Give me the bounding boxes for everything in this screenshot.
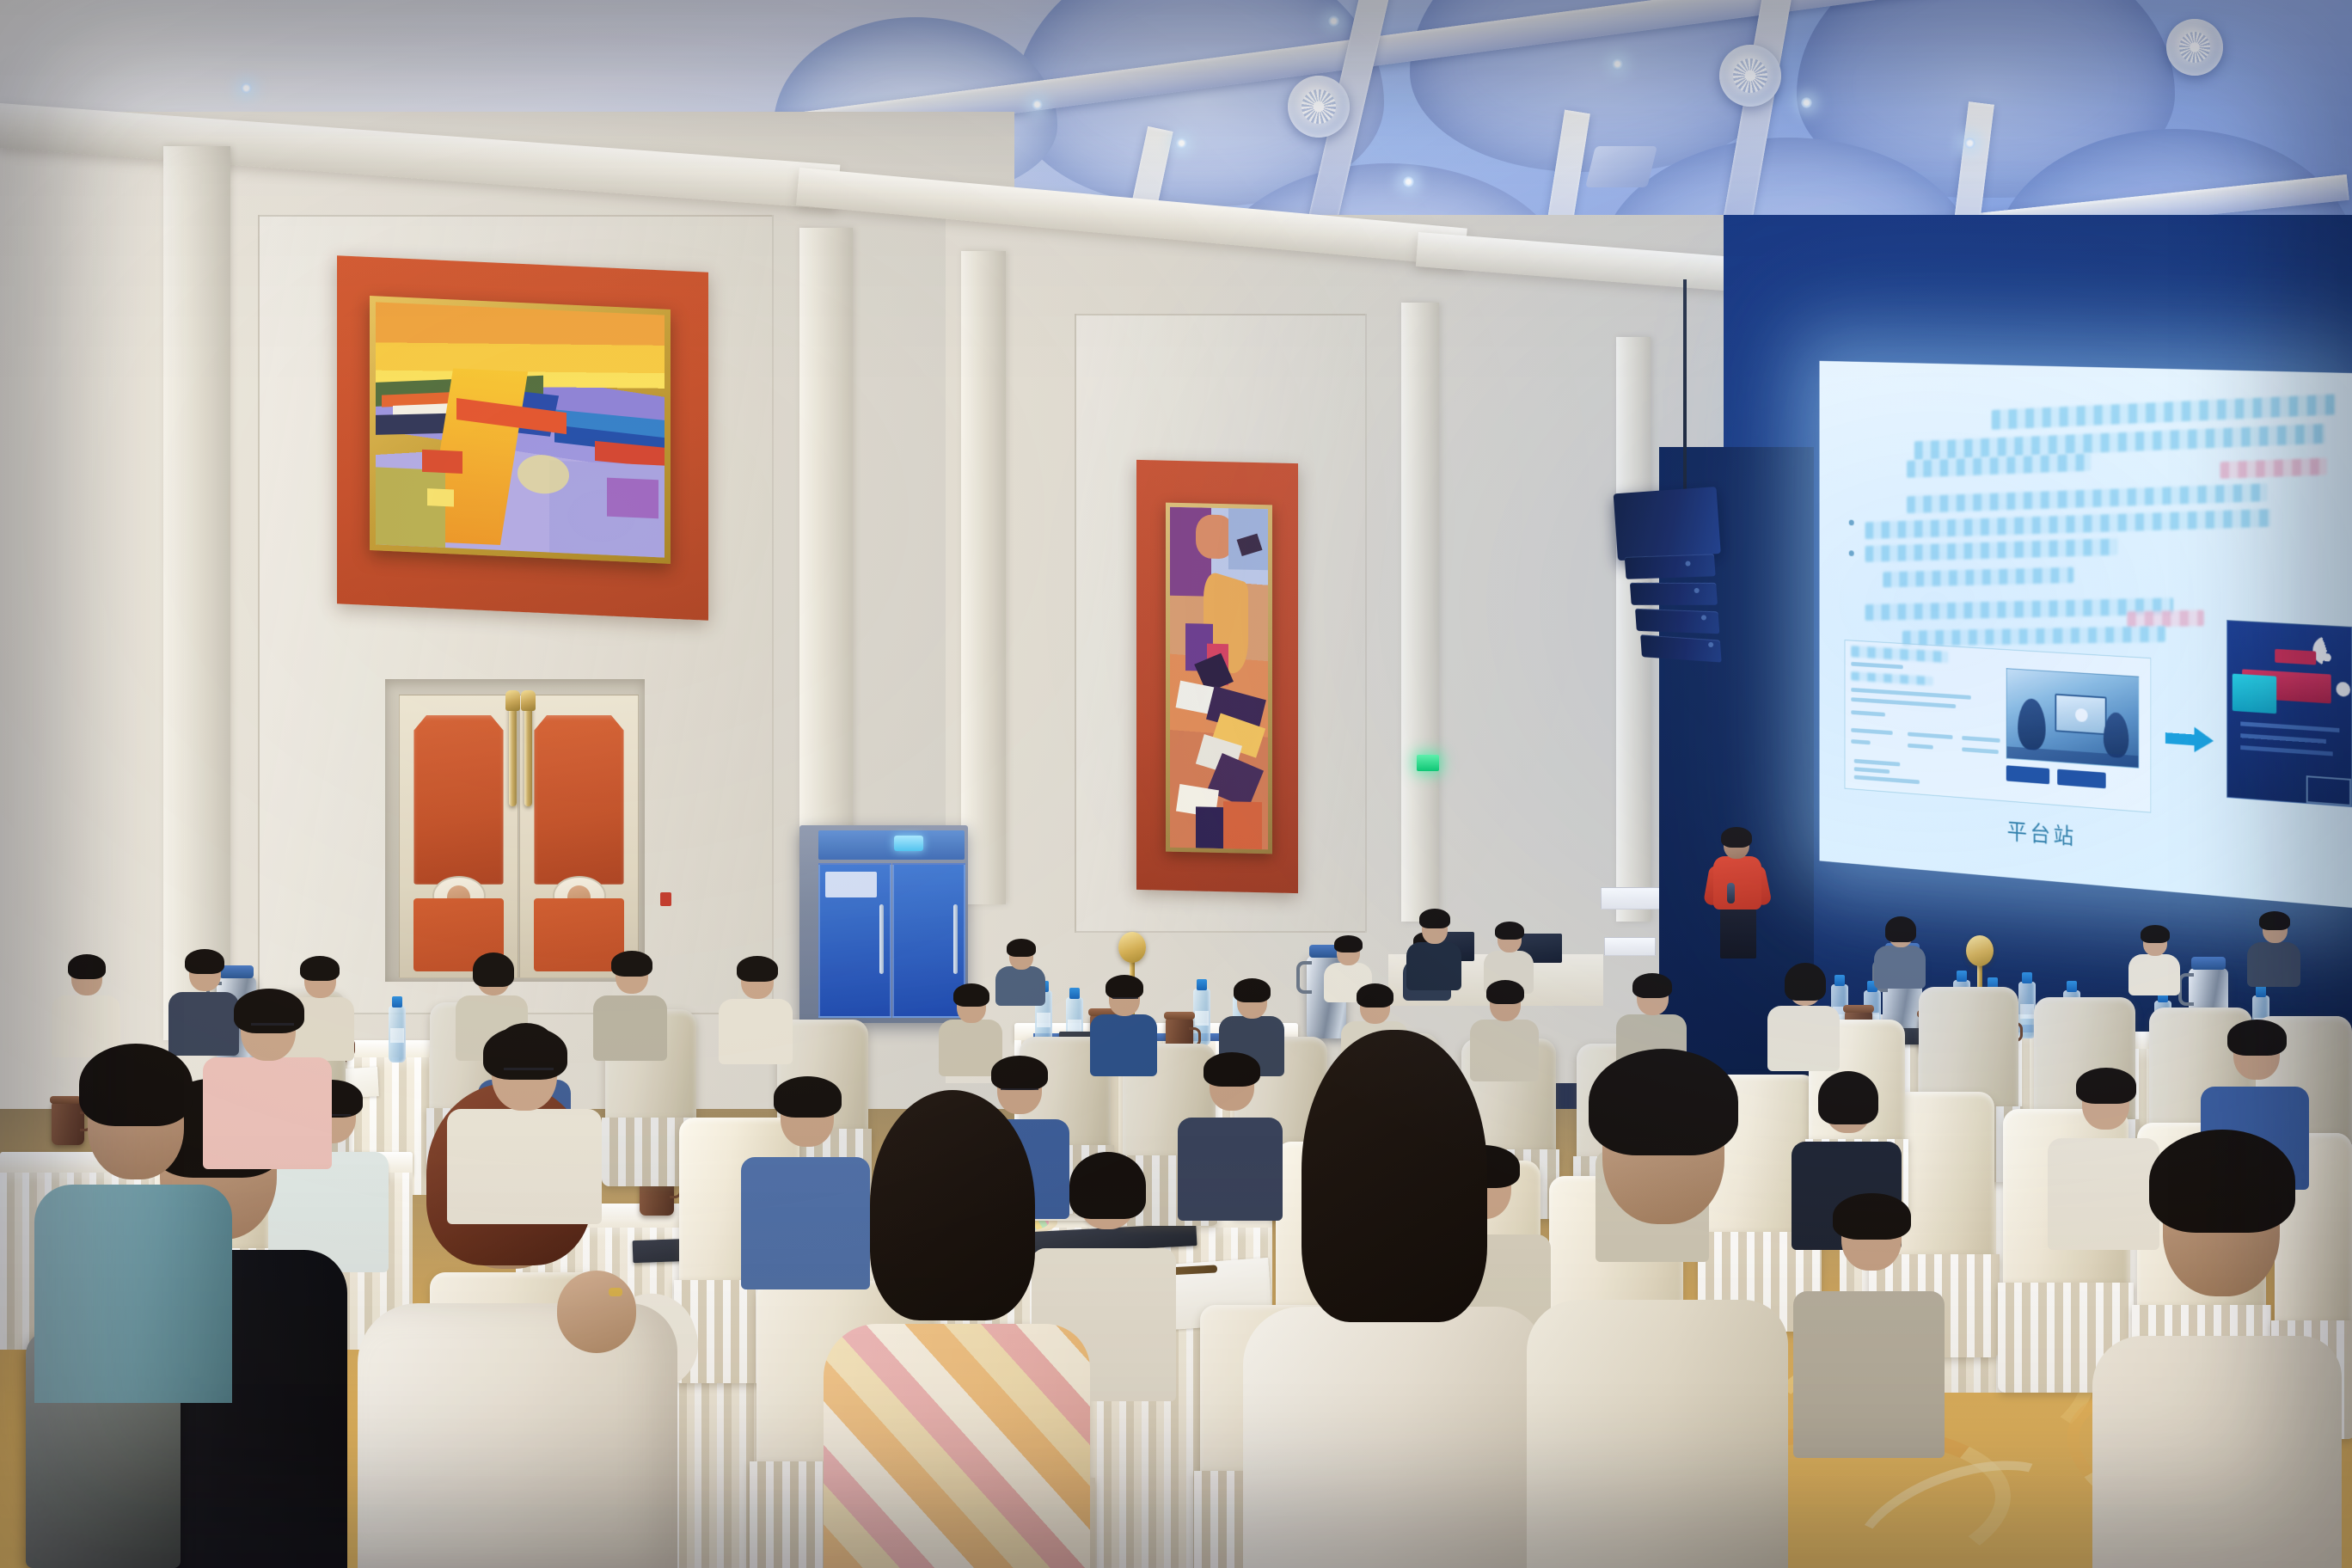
- audience-member-foreground: [2089, 1126, 2347, 1568]
- vertical-abstract-painting: [1166, 503, 1272, 854]
- ceiling-air-diffuser: [1585, 146, 1657, 187]
- audience-member: [1874, 916, 1926, 989]
- ceiling-downlight: [1176, 138, 1187, 149]
- audience-member: [2247, 911, 2300, 987]
- speaker-suspension-cable: [1683, 279, 1687, 496]
- water-bottle[interactable]: [389, 1006, 406, 1063]
- ceiling-downlight: [1801, 97, 1812, 108]
- audience-member: [995, 937, 1045, 1006]
- ballroom-door-right[interactable]: [519, 695, 639, 978]
- slide-photo-thumbnail: [2006, 668, 2140, 769]
- handheld-microphone: [1727, 883, 1735, 903]
- ceiling-rosette: [1719, 45, 1781, 107]
- fire-alarm-pull: [660, 892, 671, 906]
- ceiling-downlight: [1328, 15, 1339, 27]
- slide-card-button: [2006, 765, 2049, 784]
- slide-arrow-icon: [2165, 725, 2214, 753]
- fridge-label: [825, 872, 877, 897]
- ceiling-rosette: [1288, 76, 1350, 138]
- wall-notice-sign: [1604, 937, 1656, 956]
- wifi-icon: [2312, 635, 2341, 666]
- ceiling-downlight: [1032, 99, 1043, 110]
- ceiling-downlight: [1964, 138, 1975, 149]
- av-operator: [1406, 908, 1461, 990]
- audience-member: [1090, 975, 1157, 1076]
- ring: [609, 1288, 622, 1296]
- audience-member-foreground: [1238, 1023, 1556, 1568]
- audience-member: [203, 989, 332, 1169]
- landscape-abstract-painting: [370, 296, 671, 564]
- door-handle-left[interactable]: [509, 705, 517, 806]
- slide-phone-mockup: [2226, 620, 2352, 807]
- wall-notice-sign: [1601, 887, 1663, 910]
- eyeglasses: [504, 1068, 554, 1070]
- wall-pilaster: [799, 228, 853, 864]
- audience-member: [593, 951, 667, 1061]
- ceiling-rosette: [2166, 19, 2223, 76]
- fridge-display-panel: [894, 836, 923, 851]
- eyeglasses: [251, 1023, 294, 1026]
- audience-member: [2128, 923, 2180, 995]
- projection-screen: 平台站: [1820, 361, 2352, 908]
- ballroom-door-left[interactable]: [399, 695, 518, 978]
- presenter: [1706, 830, 1768, 959]
- audience-member-foreground: [817, 1083, 1100, 1568]
- ceiling-downlight: [1403, 176, 1414, 187]
- exit-sign: [1417, 755, 1439, 771]
- conference-hall-photo: 平台站: [0, 0, 2352, 1568]
- slide-content-card: [1845, 640, 2152, 813]
- wall-pilaster: [1401, 303, 1439, 922]
- audience-member-foreground: [1522, 1042, 1797, 1568]
- ceiling-downlight: [1612, 58, 1623, 70]
- audience-member: [1793, 1191, 1945, 1458]
- slide-caption: 平台站: [2007, 815, 2077, 851]
- wall-pilaster: [961, 251, 1006, 904]
- audience-member: [719, 956, 793, 1064]
- door-handle-right[interactable]: [524, 705, 532, 806]
- slide-card-button: [2057, 769, 2105, 789]
- ceiling-downlight: [241, 83, 252, 94]
- line-array-speaker: [1614, 487, 1730, 678]
- wall-pilaster: [163, 146, 230, 1040]
- audience-member: [447, 1026, 602, 1224]
